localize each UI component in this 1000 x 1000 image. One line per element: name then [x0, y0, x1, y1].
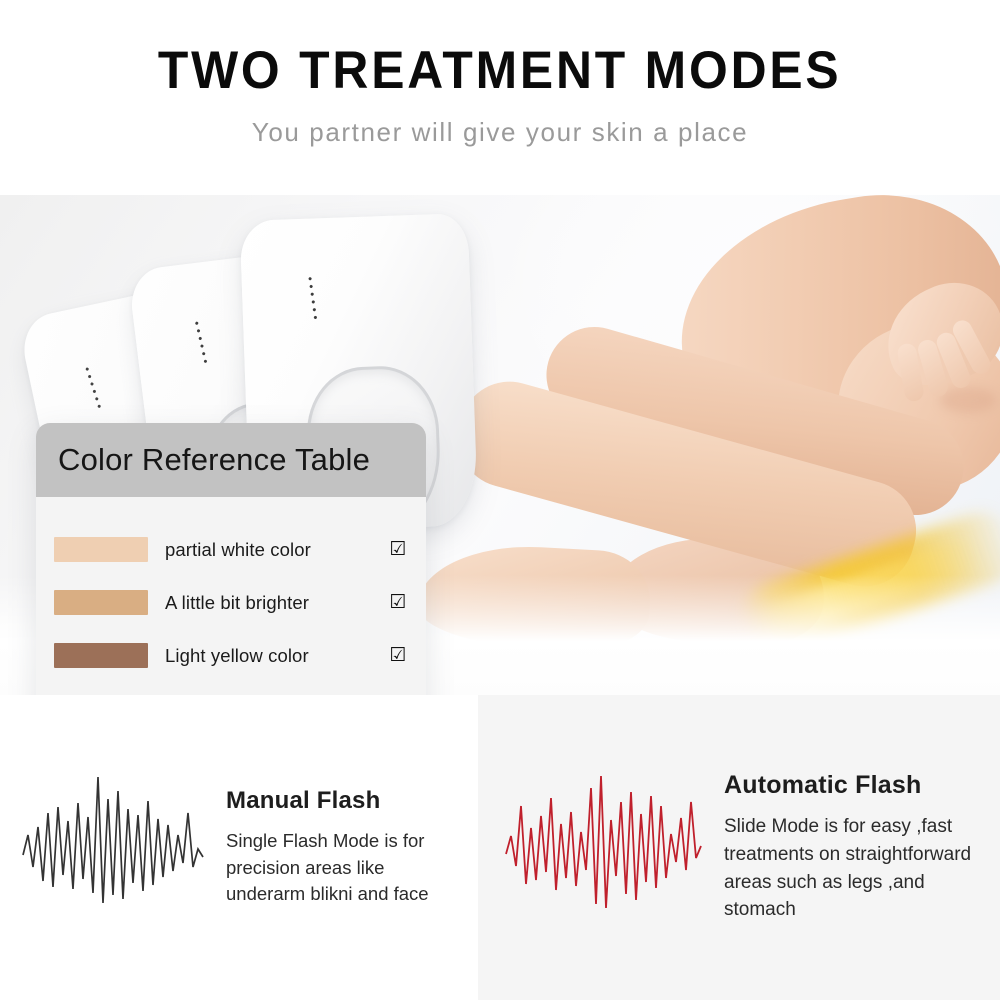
color-reference-body: partial white color ☑ A little bit brigh…: [36, 497, 426, 695]
swatch-label: partial white color: [148, 539, 388, 561]
hero-section: Color Reference Table partial white colo…: [0, 195, 1000, 695]
manual-waveform-icon: [14, 763, 214, 933]
page-title: TWO TREATMENT MODES: [158, 44, 842, 97]
manual-mode-text: Manual Flash Single Flash Mode is for pr…: [214, 787, 478, 908]
table-row: partial white color ☑: [36, 523, 426, 576]
automatic-mode-description: Slide Mode is for easy ,fast treatments …: [724, 813, 986, 923]
automatic-mode-title: Automatic Flash: [724, 771, 986, 800]
treatment-modes-section: Manual Flash Single Flash Mode is for pr…: [0, 695, 1000, 1000]
swatch-label: A little bit brighter: [148, 592, 388, 614]
color-swatch: [54, 643, 148, 668]
page-header: TWO TREATMENT MODES You partner will giv…: [0, 0, 1000, 195]
product-feature-page: TWO TREATMENT MODES You partner will giv…: [0, 0, 1000, 1000]
color-swatch: [54, 590, 148, 615]
color-reference-header: Color Reference Table: [36, 423, 426, 497]
suitability-checkbox-icon: ☑: [388, 593, 408, 613]
color-swatch: [54, 537, 148, 562]
hand-shadow: [940, 387, 996, 413]
mode-panel-automatic: Automatic Flash Slide Mode is for easy ,…: [478, 695, 1000, 1000]
swatch-label: Light yellow color: [148, 645, 388, 667]
automatic-waveform-icon: [496, 758, 712, 938]
automatic-mode-text: Automatic Flash Slide Mode is for easy ,…: [712, 771, 1000, 923]
color-reference-card: Color Reference Table partial white colo…: [36, 423, 426, 695]
table-row: Light yellow color ☑: [36, 629, 426, 682]
suitability-checkbox-icon: ☑: [388, 540, 408, 560]
page-subtitle: You partner will give your skin a place: [252, 117, 748, 148]
mode-panel-manual: Manual Flash Single Flash Mode is for pr…: [0, 695, 478, 1000]
manual-waveform-svg: [19, 763, 209, 933]
suitability-checkbox-icon: ☑: [388, 646, 408, 666]
table-row: A little bit brighter ☑: [36, 576, 426, 629]
manual-mode-description: Single Flash Mode is for precision areas…: [226, 828, 464, 908]
color-reference-title: Color Reference Table: [58, 442, 370, 478]
manual-mode-title: Manual Flash: [226, 787, 464, 815]
automatic-waveform-svg: [502, 758, 707, 938]
table-row: Wheat & Chamomile ☑: [36, 682, 426, 695]
